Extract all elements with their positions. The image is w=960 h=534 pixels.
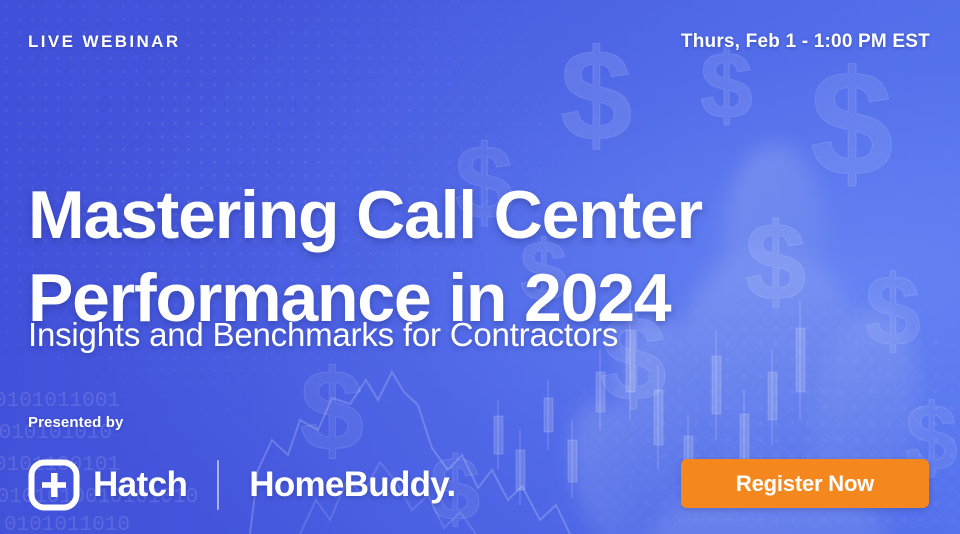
hatch-rounded-square-h-mark-icon [28, 459, 80, 511]
presented-by-label: Presented by [28, 414, 123, 431]
headline-line-1: Mastering Call Center [28, 177, 702, 253]
hatch-wordmark: Hatch [93, 465, 187, 505]
webinar-banner: $ $ $ $ $ $ $ $ $ $ $ [0, 0, 960, 534]
eyebrow-label: LIVE WEBINAR [28, 32, 181, 52]
register-now-button-label: Register Now [736, 471, 874, 497]
dollar-sign-glyph: $ [865, 255, 921, 367]
svg-text:0101011010: 0101011010 [4, 514, 130, 534]
hatch-logo[interactable]: Hatch [28, 459, 187, 511]
partner-logo-row: Hatch HomeBuddy. [28, 458, 456, 512]
webinar-datetime: Thurs, Feb 1 - 1:00 PM EST [681, 31, 930, 53]
dollar-sign-glyph: $ [300, 347, 364, 475]
subheadline: Insights and Benchmarks for Contractors [28, 316, 618, 354]
page-title: Mastering Call Center Performance in 202… [28, 174, 828, 340]
svg-text:0101011001: 0101011001 [0, 390, 120, 413]
logo-divider [217, 460, 219, 510]
register-now-button[interactable]: Register Now [681, 459, 929, 508]
dollar-sign-glyph: $ [560, 22, 632, 168]
homebuddy-wordmark[interactable]: HomeBuddy. [249, 465, 455, 505]
